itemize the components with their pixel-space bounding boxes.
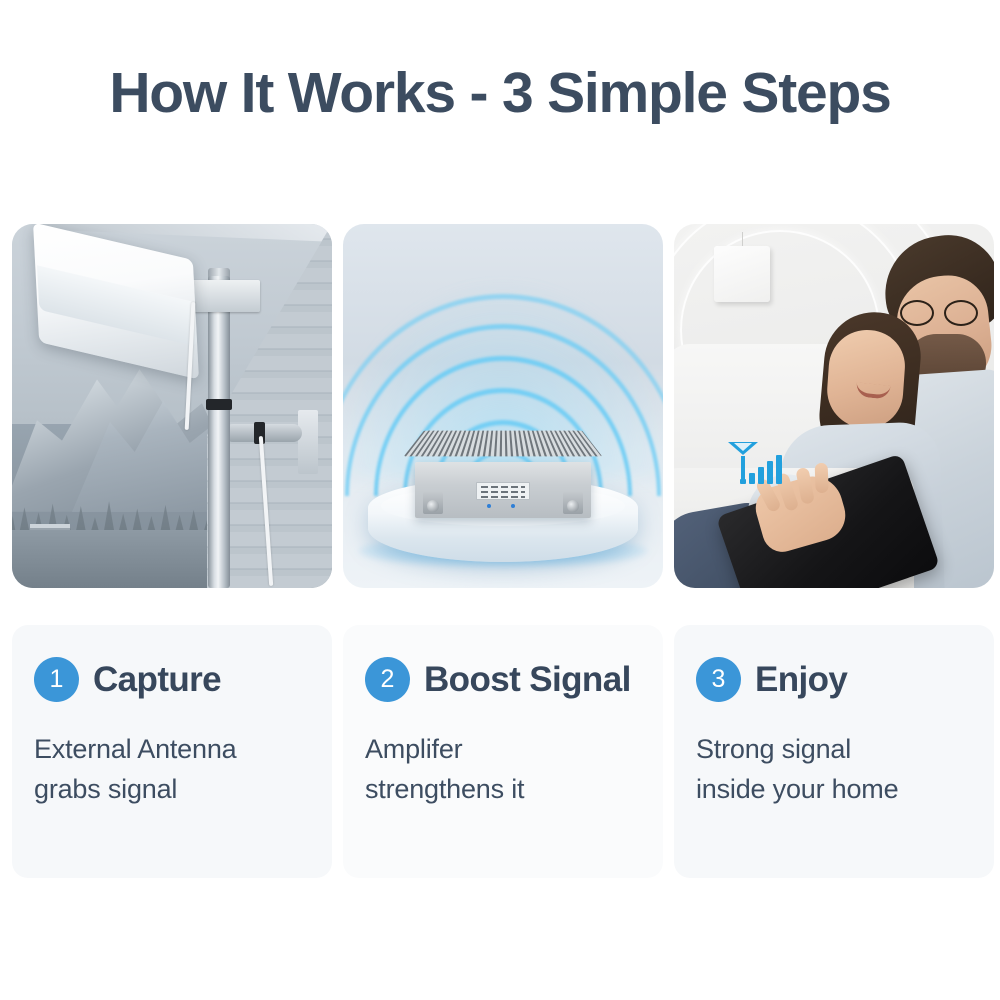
signal-bar [740,479,746,484]
signal-bar [749,473,755,484]
step-card-header: 2 Boost Signal [365,655,641,703]
signal-bars-icon [724,442,784,484]
step-description: External Antenna grabs signal [34,730,310,810]
amplifier-heatsink-fins [404,431,602,457]
page-title: How It Works - 3 Simple Steps [0,62,1000,125]
antenna-mast [208,276,230,588]
signal-bar [767,461,773,484]
step-title: Boost Signal [424,662,631,697]
illustration-row [12,224,988,588]
step-card-header: 3 Enjoy [696,655,972,703]
step-card-boost-signal: 2 Boost Signal Amplifer strengthens it [343,625,663,878]
step-title: Enjoy [755,662,847,697]
amplifier-front-label [476,482,530,500]
step-card-capture: 1 Capture External Antenna grabs signal [12,625,332,878]
step-title: Capture [93,662,221,697]
signal-bar [758,467,764,484]
amplifier-led [487,504,491,508]
indoor-wall-antenna [714,246,770,302]
amplifier-led [511,504,515,508]
amplifier-connector-right [563,492,583,514]
mast-band [206,399,232,410]
step-card-enjoy: 3 Enjoy Strong signal inside your home [674,625,994,878]
signal-booster-photo [343,224,663,588]
couple-indoors-photo [674,224,994,588]
step-number-badge: 3 [696,657,741,702]
steps-row: 1 Capture External Antenna grabs signal … [12,625,988,878]
antenna-cone-inner [734,443,752,451]
outdoor-antenna-photo [12,224,332,588]
signal-bar [776,455,782,484]
step-description: Amplifer strengthens it [365,730,641,810]
step-number-badge: 2 [365,657,410,702]
step-description: Strong signal inside your home [696,730,972,810]
step-card-header: 1 Capture [34,655,310,703]
glasses-icon [900,300,978,322]
step-number-badge: 1 [34,657,79,702]
amplifier-connector-left [423,492,443,514]
wall-mount-plate [298,410,318,474]
